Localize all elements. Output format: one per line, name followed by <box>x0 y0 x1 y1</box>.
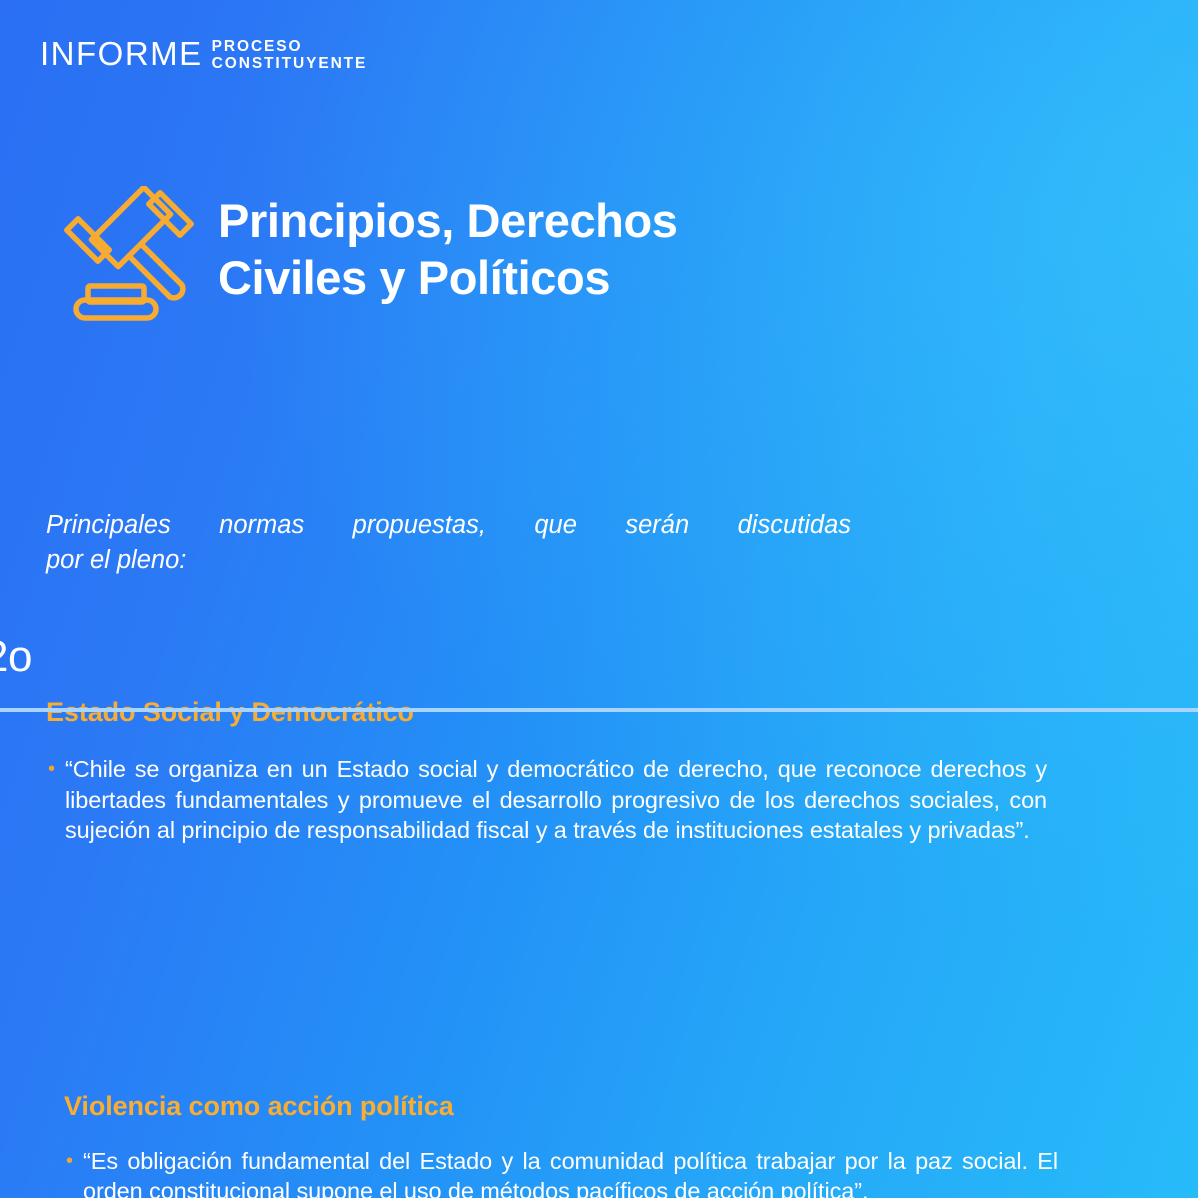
slide-canvas: INFORME PROCESO CONSTITUYENTE <box>0 0 1198 1198</box>
section-estado-social: Estado Social y Democrático • “Chile se … <box>46 696 1068 846</box>
section-heading: Violencia como acción política <box>64 1090 1069 1122</box>
brand-secondary-label: PROCESO CONSTITUYENTE <box>212 38 368 72</box>
bullet-icon: • <box>66 1146 73 1177</box>
intro-line1: Principales normas propuestas, que serán… <box>46 508 851 543</box>
bottom-edge-strip <box>0 708 1198 712</box>
intro-line2: por el pleno: <box>46 543 851 578</box>
brand-secondary-line2: CONSTITUYENTE <box>212 55 368 72</box>
page-title-line2: Civiles y Políticos <box>218 249 678 306</box>
page-title: Principios, Derechos Civiles y Políticos <box>218 192 678 306</box>
title-block: Principios, Derechos Civiles y Políticos <box>58 186 1198 326</box>
bullet-item: • “Chile se organiza en un Estado social… <box>46 754 1068 846</box>
bullet-icon: • <box>48 754 55 785</box>
brand-primary-label: INFORME <box>40 36 203 72</box>
brand-secondary-line1: PROCESO <box>212 38 303 55</box>
quote-text: “Chile se organiza en un Estado social y… <box>65 754 1047 846</box>
quote-text: “Es obligación fundamental del Estado y … <box>83 1146 1058 1198</box>
b2o-logo: b2o <box>0 634 1158 680</box>
bullet-item: • “Es obligación fundamental del Estado … <box>64 1146 1069 1198</box>
section-violencia-accion-politica: Violencia como acción política • “Es obl… <box>64 1090 1069 1198</box>
page-title-line1: Principios, Derechos <box>218 192 678 249</box>
brand-header: INFORME PROCESO CONSTITUYENTE <box>40 36 1198 72</box>
intro-text: Principales normas propuestas, que serán… <box>46 508 851 578</box>
section-heading: Estado Social y Democrático <box>46 696 1068 728</box>
gavel-icon <box>58 186 208 326</box>
